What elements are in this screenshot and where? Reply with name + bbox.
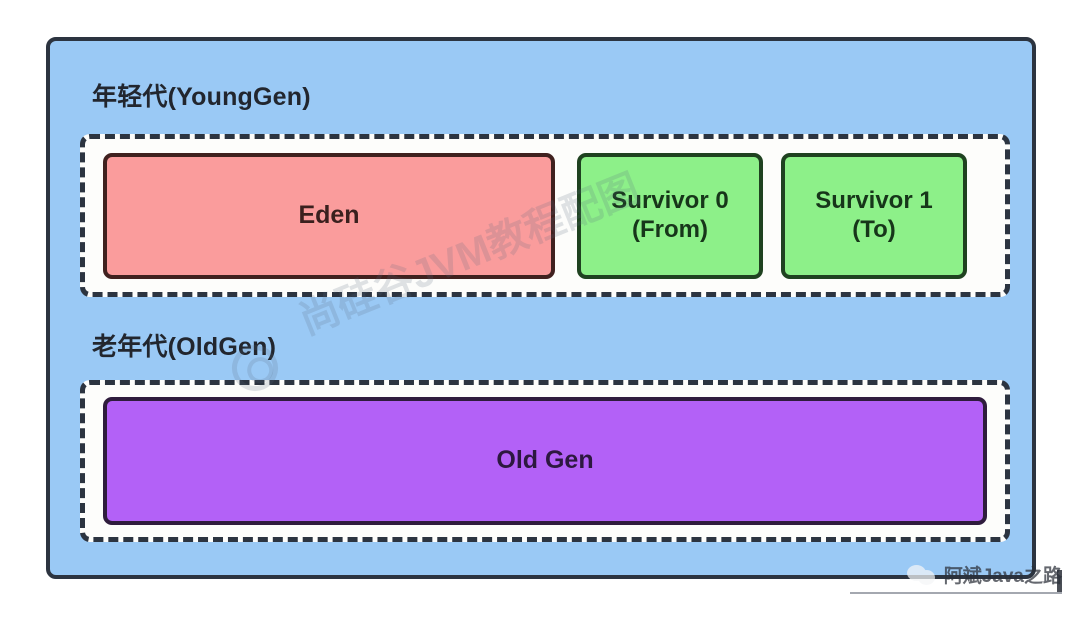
- survivor1-box: Survivor 1 (To): [781, 153, 967, 279]
- eden-box: Eden: [103, 153, 555, 279]
- brand-footer: 阿斌Java之路: [907, 561, 1062, 588]
- footer-divider: [850, 592, 1062, 594]
- wechat-icon: [907, 564, 937, 586]
- young-gen-label: 年轻代(YoungGen): [92, 85, 311, 110]
- brand-text: 阿斌Java之路: [944, 561, 1062, 588]
- survivor0-box: Survivor 0 (From): [577, 153, 763, 279]
- old-gen-region: Old Gen: [80, 380, 1010, 542]
- survivor0-title: Survivor 0: [611, 187, 728, 215]
- old-gen-label: 老年代(OldGen): [92, 335, 276, 360]
- survivor0-subtitle: (From): [611, 216, 728, 244]
- young-gen-region: Eden Survivor 0 (From) Survivor 1 (To): [80, 134, 1010, 297]
- survivor1-subtitle: (To): [815, 216, 932, 244]
- survivor1-title: Survivor 1: [815, 187, 932, 215]
- oldgen-box: Old Gen: [103, 397, 987, 525]
- heap-diagram: 年轻代(YoungGen) Eden Survivor 0 (From) Sur…: [46, 37, 1036, 579]
